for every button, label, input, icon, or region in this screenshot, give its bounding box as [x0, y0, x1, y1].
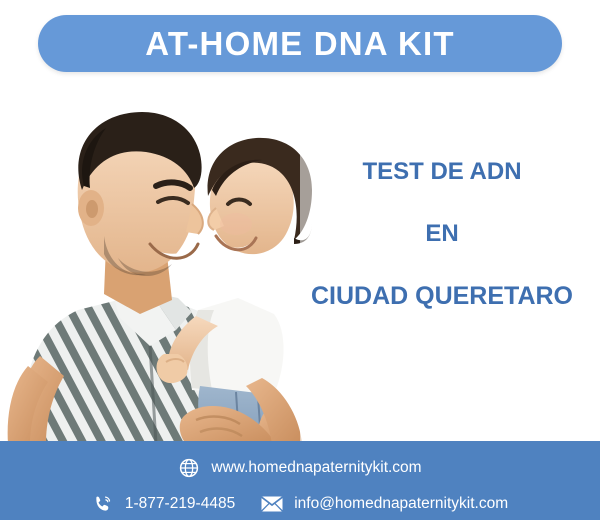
website-contact[interactable]: www.homednapaternitykit.com — [178, 457, 421, 479]
headline-line-2: EN — [292, 222, 592, 246]
headline-line-3: CIUDAD QUERETARO — [292, 284, 592, 309]
page-title: AT-HOME DNA KIT — [145, 27, 454, 60]
footer-row-website: www.homednapaternitykit.com — [0, 457, 600, 479]
envelope-icon — [261, 493, 283, 515]
poster-canvas: AT-HOME DNA KIT — [0, 0, 600, 520]
phone-label: 1-877-219-4485 — [125, 496, 235, 512]
footer-row-phone-email: 1-877-219-4485 info@homednapaternitykit.… — [0, 493, 600, 515]
title-banner: AT-HOME DNA KIT — [38, 15, 562, 72]
phone-icon — [92, 493, 114, 515]
father-and-child-photo — [0, 78, 340, 444]
headline-block: TEST DE ADN EN CIUDAD QUERETARO — [292, 160, 592, 309]
globe-icon — [178, 457, 200, 479]
contact-footer: www.homednapaternitykit.com 1-877-219-44… — [0, 441, 600, 520]
phone-contact[interactable]: 1-877-219-4485 — [92, 493, 235, 515]
headline-line-1: TEST DE ADN — [292, 160, 592, 184]
email-label: info@homednapaternitykit.com — [294, 496, 508, 512]
email-contact[interactable]: info@homednapaternitykit.com — [261, 493, 508, 515]
website-label: www.homednapaternitykit.com — [211, 460, 421, 476]
